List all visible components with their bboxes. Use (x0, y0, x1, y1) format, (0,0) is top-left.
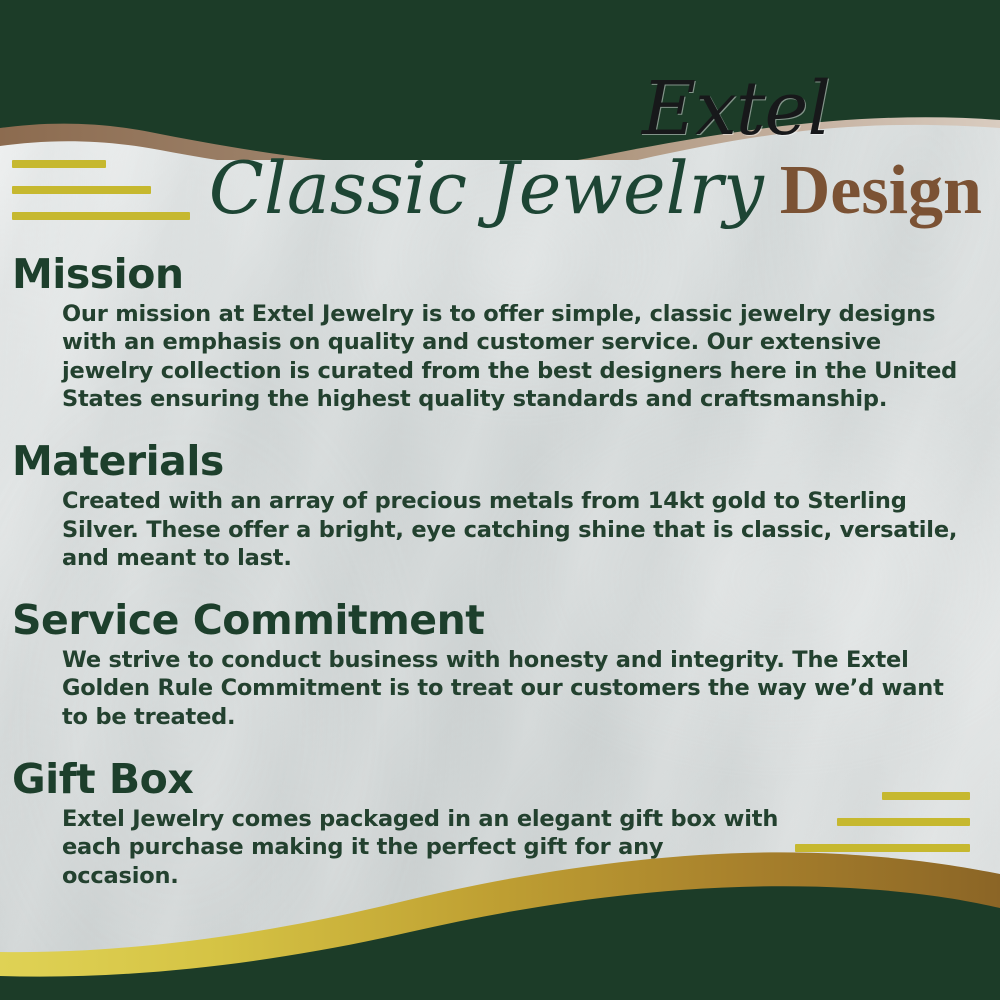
title-accent-text: Design (780, 156, 982, 226)
section-heading: Gift Box (12, 757, 986, 803)
brand-logo: Extel (642, 72, 830, 146)
section-body: Created with an array of precious metals… (62, 487, 972, 572)
title-script-text: Classic Jewelry (209, 152, 764, 224)
section-heading: Materials (12, 439, 986, 485)
section-body: We strive to conduct business with hones… (62, 646, 972, 731)
section-heading: Mission (12, 252, 986, 298)
page-title: Classic Jewelry Design (0, 152, 982, 244)
poster-canvas: Extel Classic Jewelry Design Mission Our… (0, 0, 1000, 1000)
top-wave-banner (0, 0, 1000, 160)
sections-container: Mission Our mission at Extel Jewelry is … (12, 252, 986, 890)
section-body: Our mission at Extel Jewelry is to offer… (62, 300, 972, 413)
section-body: Extel Jewelry comes packaged in an elega… (62, 805, 782, 890)
section-service-commitment: Service Commitment We strive to conduct … (12, 598, 986, 731)
section-gift-box: Gift Box Extel Jewelry comes packaged in… (12, 757, 986, 890)
section-heading: Service Commitment (12, 598, 986, 644)
section-materials: Materials Created with an array of preci… (12, 439, 986, 572)
section-mission: Mission Our mission at Extel Jewelry is … (12, 252, 986, 413)
